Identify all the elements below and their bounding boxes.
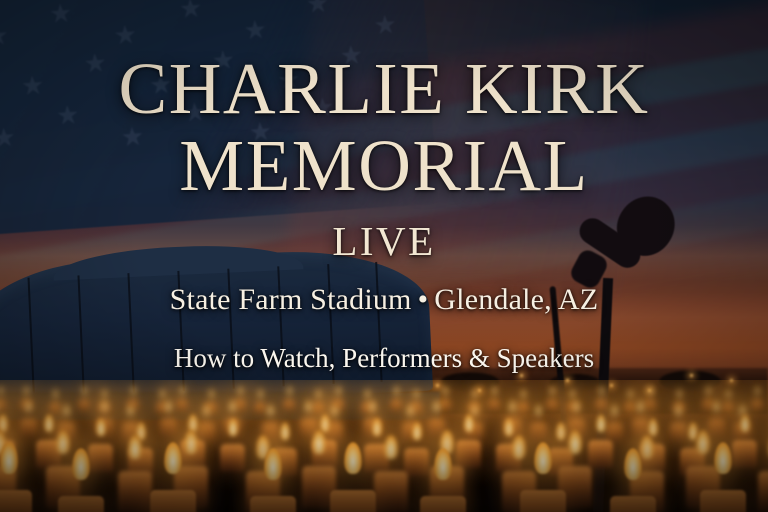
venue-location: Glendale, AZ (434, 283, 598, 316)
tagline: How to Watch, Performers & Speakers (174, 343, 594, 374)
memorial-poster: ★★★★★★★★★★★★★★★★★★★ CHARLIE KIRK MEMORIA… (0, 0, 768, 512)
venue-separator-dot: • (418, 283, 429, 316)
live-badge: LIVE (332, 217, 435, 265)
venue-line: State Farm Stadium•Glendale, AZ (170, 283, 599, 317)
page-title-line-1: CHARLIE KIRK (119, 53, 650, 125)
page-title-line-2: MEMORIAL (179, 130, 588, 202)
venue-name: State Farm Stadium (170, 283, 412, 316)
poster-text-block: CHARLIE KIRK MEMORIAL LIVE State Farm St… (0, 0, 768, 512)
